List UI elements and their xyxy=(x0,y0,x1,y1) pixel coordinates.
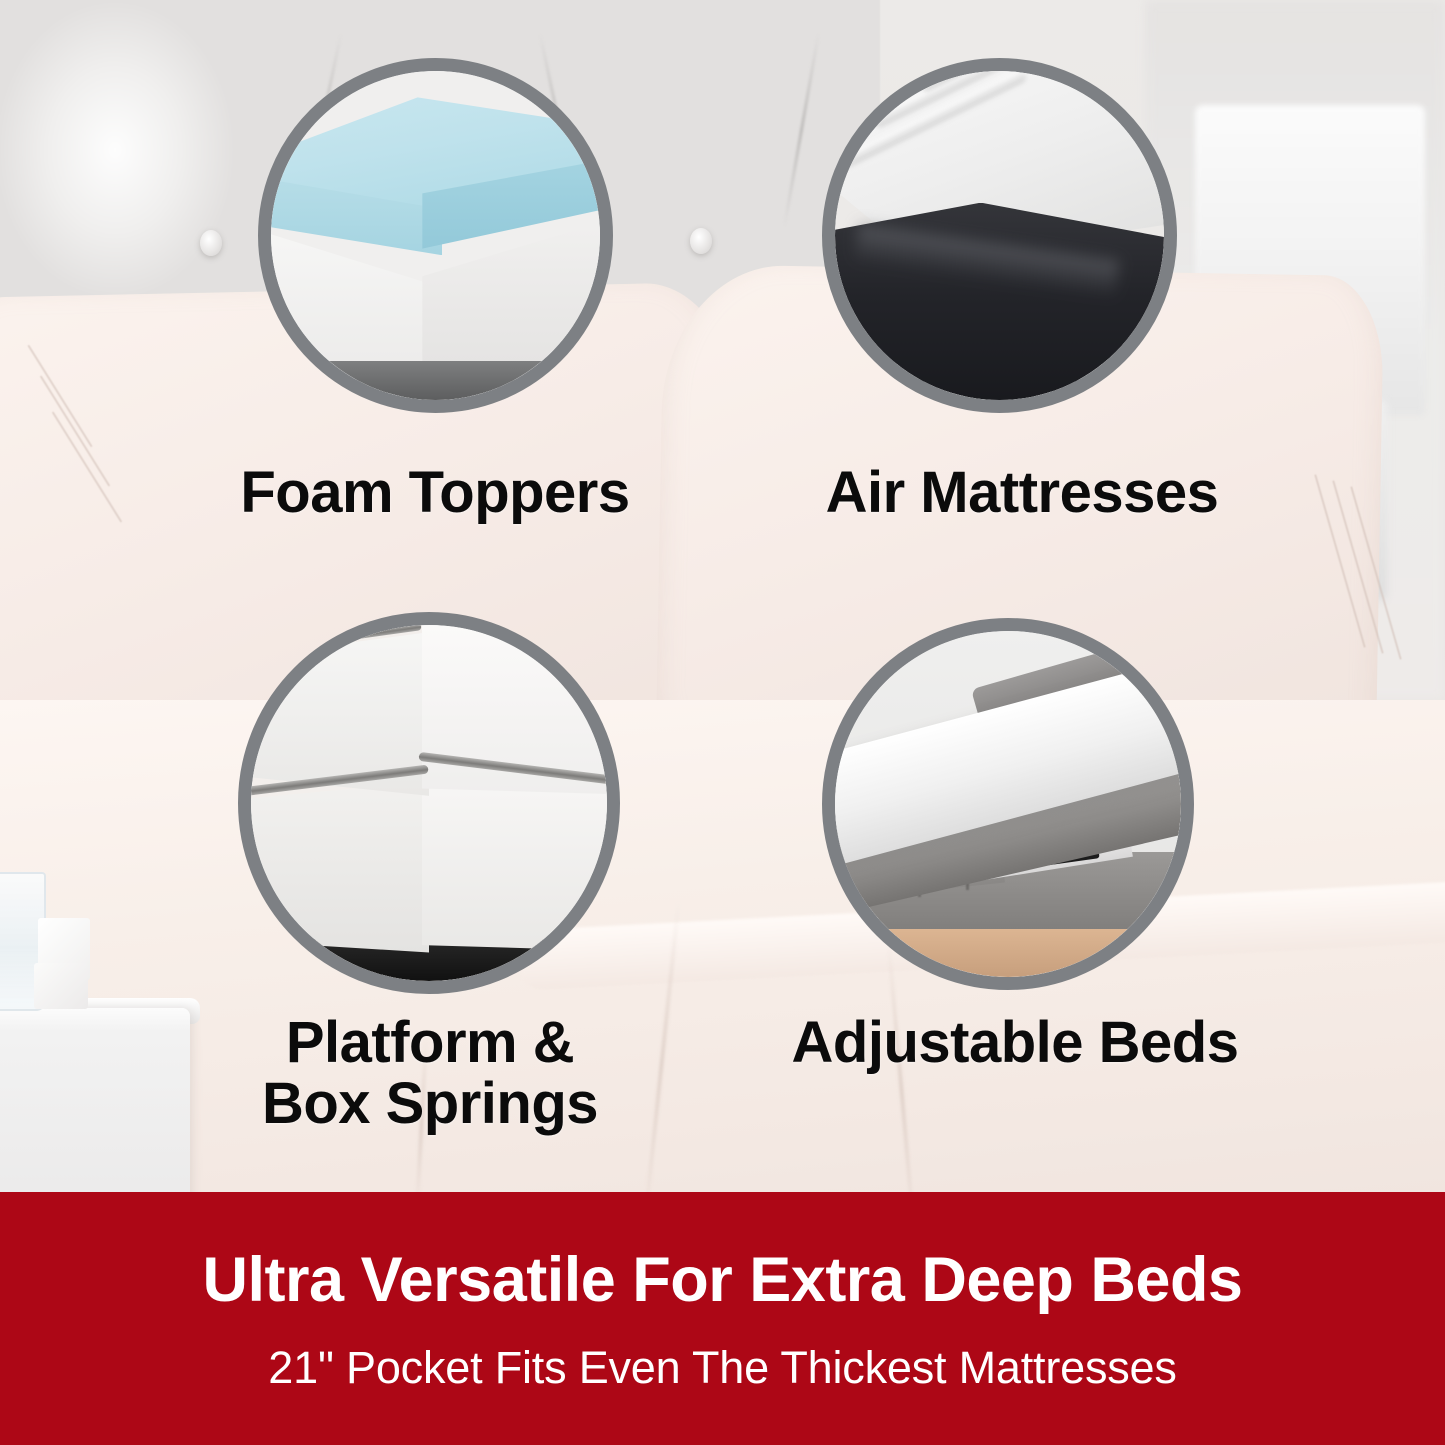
adjustable-bed-photo xyxy=(835,631,1181,977)
headboard-tuft xyxy=(200,230,222,256)
callout-circle-adjustable-beds xyxy=(822,618,1194,990)
platform-box-spring-photo xyxy=(251,625,607,981)
callout-circle-foam-toppers xyxy=(258,58,613,413)
callout-label-adjustable-beds: Adjustable Beds xyxy=(735,1013,1295,1074)
callout-label-foam-toppers: Foam Toppers xyxy=(175,463,695,524)
decor-box xyxy=(34,963,88,1009)
nightstand xyxy=(0,1008,190,1208)
callout-circle-air-mattresses xyxy=(822,58,1177,413)
headboard-tuft xyxy=(690,228,712,254)
foam-topper-photo xyxy=(271,71,600,400)
product-infographic: Foam Toppers Air Mattresses Pl xyxy=(0,0,1445,1445)
bottom-banner: Ultra Versatile For Extra Deep Beds 21" … xyxy=(0,1192,1445,1445)
air-mattress-photo xyxy=(835,71,1164,400)
callout-label-platform-box-springs: Platform & Box Springs xyxy=(215,1013,645,1135)
callout-circle-platform-box-springs xyxy=(238,612,620,994)
banner-headline: Ultra Versatile For Extra Deep Beds xyxy=(203,1244,1243,1316)
banner-subheadline: 21" Pocket Fits Even The Thickest Mattre… xyxy=(268,1342,1176,1394)
callout-label-air-mattresses: Air Mattresses xyxy=(762,463,1282,524)
